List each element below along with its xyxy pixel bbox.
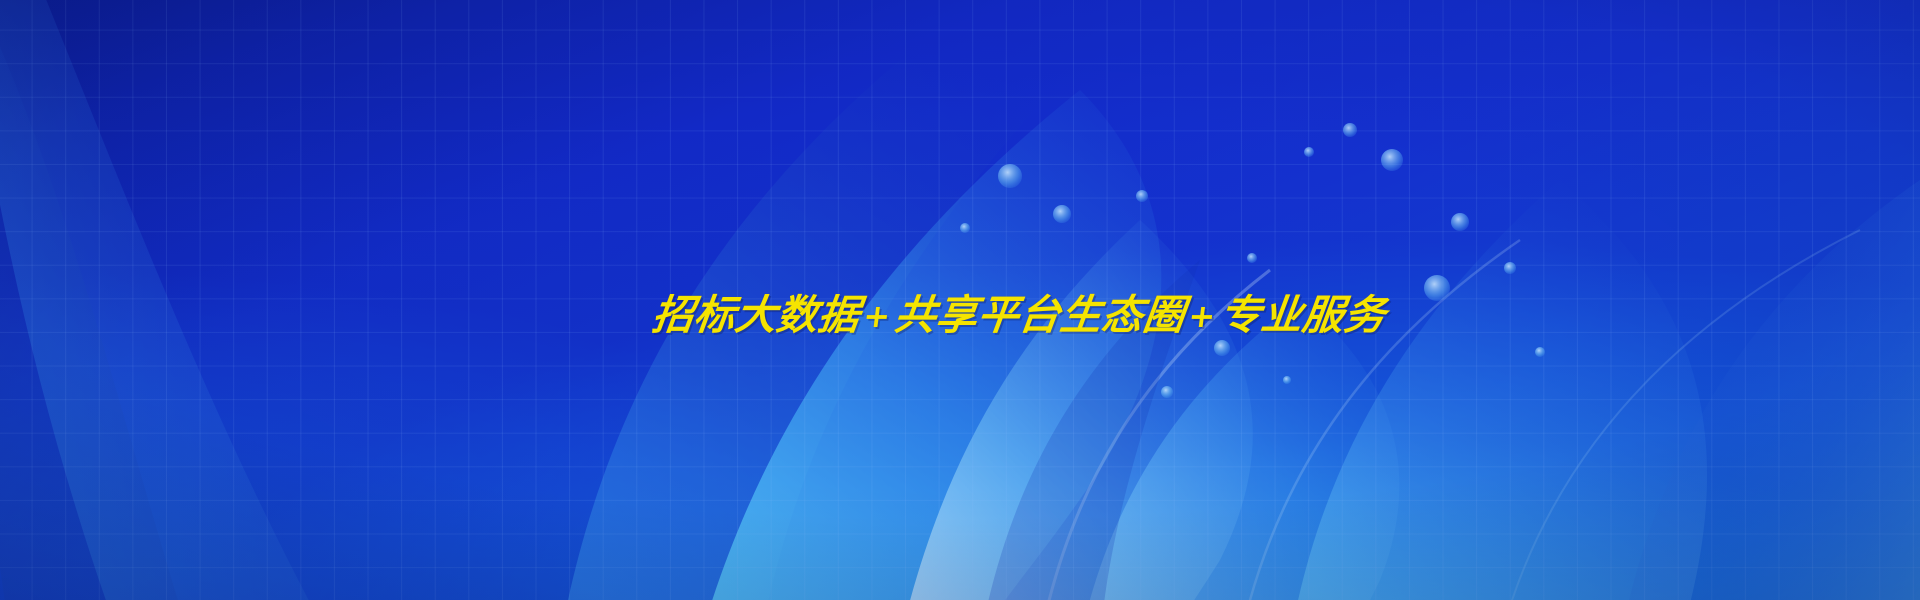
vignette-overlay xyxy=(0,0,1920,600)
hero-banner: 招标大数据+共享平台生态圈+专业服务 传递商家 凝聚价值 xyxy=(0,0,1920,600)
